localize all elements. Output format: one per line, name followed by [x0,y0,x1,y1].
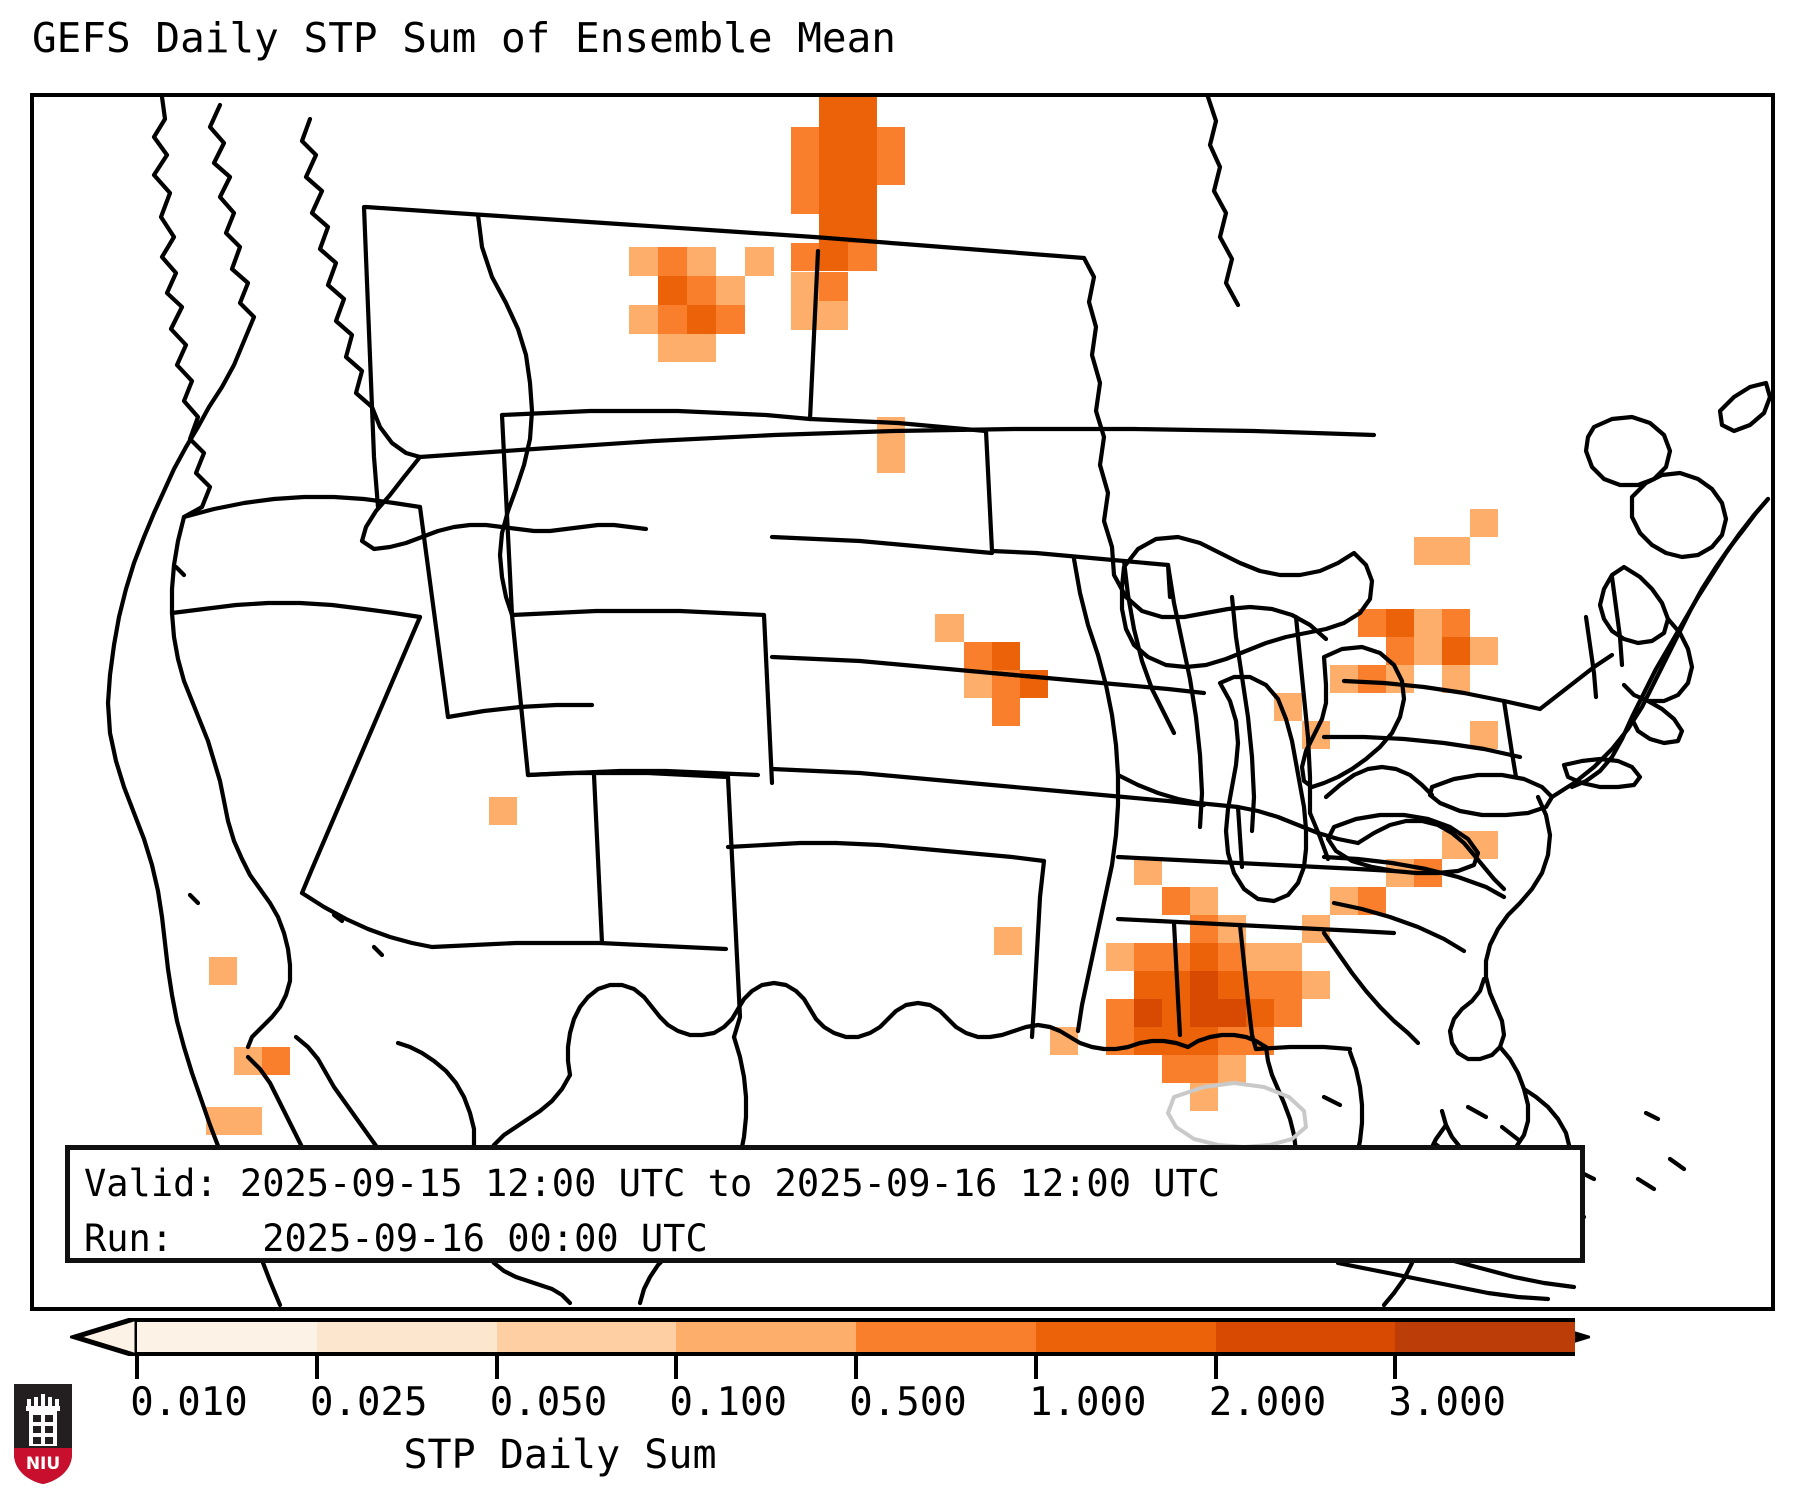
colorbar-tick-4 [854,1356,858,1379]
colorbar-tick-label-4: 0.500 [849,1380,966,1425]
valid-time-line: Valid: 2025-09-15 12:00 UTC to 2025-09-1… [84,1156,1580,1211]
basemap-geography [34,97,1771,1307]
run-time-line: Run: 2025-09-16 00:00 UTC [84,1211,1580,1266]
colorbar-tick-label-0: 0.010 [130,1380,247,1425]
colorbar-tick-3 [674,1356,678,1379]
colorbar-segment-3 [676,1322,856,1352]
colorbar-tick-0 [135,1356,139,1379]
colorbar-axis-label: STP Daily Sum [0,1432,1120,1478]
colorbar-tick-7 [1393,1356,1397,1379]
colorbar-segment-7 [1395,1322,1575,1352]
colorbar-tick-label-1: 0.025 [310,1380,427,1425]
niu-logo: NIU [12,1382,74,1486]
colorbar-tick-label-5: 1.000 [1029,1380,1146,1425]
colorbar: 0.0100.0250.0500.1000.5001.0002.0003.000 [0,1318,1803,1378]
info-box: Valid: 2025-09-15 12:00 UTC to 2025-09-1… [65,1145,1585,1263]
colorbar-tick-label-2: 0.050 [490,1380,607,1425]
colorbar-tick-1 [315,1356,319,1379]
colorbar-tick-6 [1214,1356,1218,1379]
colorbar-tick-2 [495,1356,499,1379]
page-title: GEFS Daily STP Sum of Ensemble Mean [32,18,896,59]
colorbar-tick-label-7: 3.000 [1389,1380,1506,1425]
colorbar-segment-6 [1216,1322,1396,1352]
colorbar-segment-2 [497,1322,677,1352]
colorbar-segment-4 [856,1322,1036,1352]
colorbar-gradient [137,1318,1575,1356]
colorbar-tick-label-6: 2.000 [1209,1380,1326,1425]
niu-logo-text: NIU [26,1454,60,1474]
colorbar-tick-label-3: 0.100 [670,1380,787,1425]
colorbar-segment-0 [137,1322,317,1352]
map-frame [30,93,1775,1311]
colorbar-segment-1 [317,1322,497,1352]
colorbar-segment-5 [1036,1322,1216,1352]
colorbar-tick-5 [1034,1356,1038,1379]
